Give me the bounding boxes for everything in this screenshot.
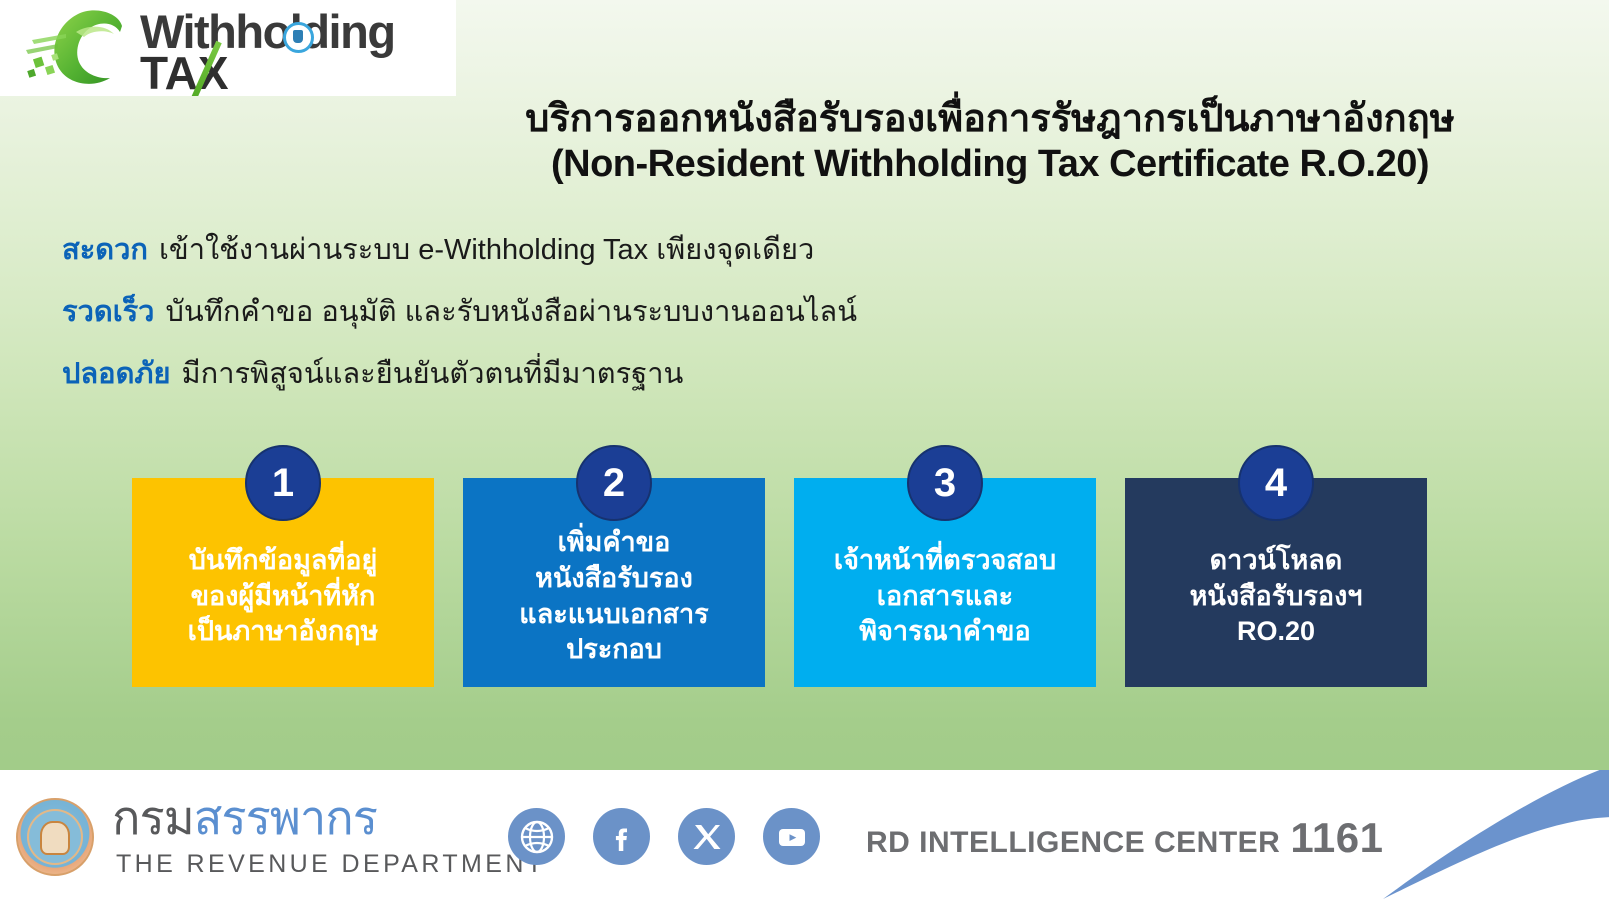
step-number-badge: 2 <box>576 445 652 521</box>
department-name-thai: กรมสรรพากร <box>112 794 377 841</box>
step-card-3: 3 เจ้าหน้าที่ตรวจสอบ เอกสารและ พิจารณาคำ… <box>794 478 1096 687</box>
title-english: (Non-Resident Withholding Tax Certificat… <box>380 142 1600 187</box>
seal-deity-figure <box>42 823 68 853</box>
facebook-icon[interactable] <box>593 808 650 865</box>
ewht-logo: Withholding TAX <box>0 0 456 96</box>
step-text: ดาวน์โหลด หนังสือรับรองฯ RO.20 <box>1190 517 1363 651</box>
step-text: บันทึกข้อมูลที่อยู่ ของผู้มีหน้าที่หัก เ… <box>188 517 379 651</box>
seal-inner-ring <box>27 809 83 865</box>
title-thai: บริการออกหนังสือรับรองเพื่อการรัษฎากรเป็… <box>380 97 1600 142</box>
benefit-keyword: ปลอดภัย <box>62 350 171 396</box>
step-number-badge: 3 <box>907 445 983 521</box>
benefit-description: มีการพิสูจน์และยืนยันตัวตนที่มีมาตรฐาน <box>182 350 684 396</box>
step-number-badge: 4 <box>1238 445 1314 521</box>
call-center-number: 1161 <box>1290 814 1383 861</box>
step-card-2: 2 เพิ่มคำขอ หนังสือรับรอง และแนบเอกสาร ป… <box>463 478 765 687</box>
social-links <box>508 808 820 865</box>
benefit-keyword: รวดเร็ว <box>62 288 154 334</box>
benefit-description: บันทึกคำขอ อนุมัติ และรับหนังสือผ่านระบบ… <box>165 288 857 334</box>
page-title: บริการออกหนังสือรับรองเพื่อการรัษฎากรเป็… <box>380 97 1600 187</box>
infographic-poster: Withholding TAX บริการออกหนังสือรับรองเพ… <box>0 0 1609 903</box>
footer-bar: กรมสรรพากร THE REVENUE DEPARTMENT <box>0 770 1609 903</box>
benefit-keyword: สะดวก <box>62 226 148 272</box>
department-name-thai-blue: สรรพากร <box>194 791 377 844</box>
step-number-badge: 1 <box>245 445 321 521</box>
ewht-logo-box: Withholding TAX <box>0 0 456 96</box>
department-name-thai-dark: กรม <box>112 791 194 844</box>
step-text: เพิ่มคำขอ หนังสือรับรอง และแนบเอกสาร ประ… <box>519 499 708 669</box>
step-card-1: 1 บันทึกข้อมูลที่อยู่ ของผู้มีหน้าที่หัก… <box>132 478 434 687</box>
call-center-info: RD INTELLIGENCE CENTER1161 <box>866 814 1383 862</box>
department-name-english: THE REVENUE DEPARTMENT <box>116 850 545 879</box>
youtube-icon[interactable] <box>763 808 820 865</box>
step-text: เจ้าหน้าที่ตรวจสอบ เอกสารและ พิจารณาคำขอ <box>834 517 1056 651</box>
revenue-department-seal-icon <box>16 798 94 876</box>
benefit-item: รวดเร็ว บันทึกคำขอ อนุมัติ และรับหนังสือ… <box>62 280 1162 342</box>
x-twitter-icon[interactable] <box>678 808 735 865</box>
benefit-description: เข้าใช้งานผ่านระบบ e-Withholding Tax เพี… <box>159 226 814 272</box>
green-e-icon <box>26 6 146 92</box>
benefits-list: สะดวก เข้าใช้งานผ่านระบบ e-Withholding T… <box>62 218 1162 404</box>
benefit-item: ปลอดภัย มีการพิสูจน์และยืนยันตัวตนที่มีม… <box>62 342 1162 404</box>
step-card-4: 4 ดาวน์โหลด หนังสือรับรองฯ RO.20 <box>1125 478 1427 687</box>
call-center-label: RD INTELLIGENCE CENTER <box>866 826 1280 859</box>
benefit-item: สะดวก เข้าใช้งานผ่านระบบ e-Withholding T… <box>62 218 1162 280</box>
website-icon[interactable] <box>508 808 565 865</box>
cursor-click-pointer-icon <box>293 30 303 43</box>
process-steps: 1 บันทึกข้อมูลที่อยู่ ของผู้มีหน้าที่หัก… <box>0 430 1609 690</box>
